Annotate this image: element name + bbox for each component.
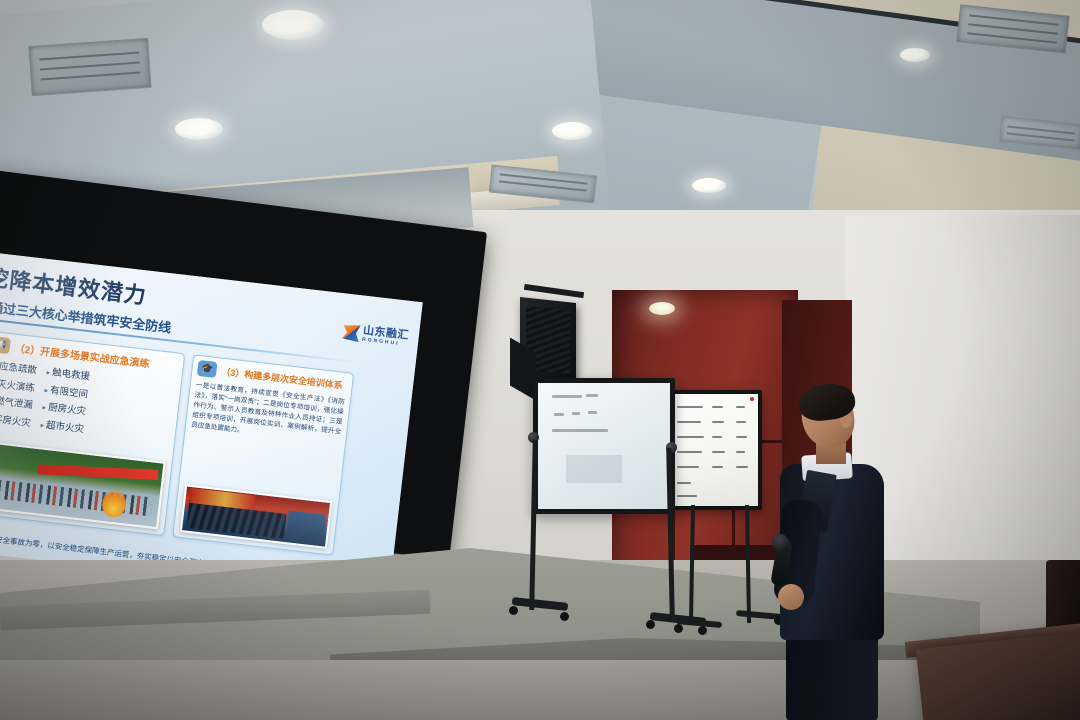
flipchart-paper bbox=[672, 394, 758, 506]
safety-training-photo bbox=[180, 484, 333, 549]
led-display-assembly: 空深挖降本增效潜力 —2026年通过三大核心举措筑牢安全防线 山东融汇 RONG… bbox=[0, 200, 490, 580]
drill-flame bbox=[101, 489, 128, 518]
presenter-hand bbox=[778, 584, 804, 610]
card-2-bullets-right: 触电救援 有限空间 厨房火灾 超市火灾 bbox=[40, 364, 91, 435]
list-item: 客房火灾 bbox=[0, 410, 32, 429]
ceiling-spotlight bbox=[649, 302, 675, 315]
ceiling-downlight bbox=[900, 48, 930, 62]
company-logo: 山东融汇 RONGHUI bbox=[342, 323, 410, 347]
list-item: 燃气泄漏 bbox=[0, 392, 34, 411]
list-item: 超市火灾 bbox=[40, 416, 85, 435]
flipchart-caster bbox=[674, 624, 683, 633]
list-item: 灭火演练 bbox=[0, 375, 36, 394]
graduation-cap-icon: 🎓 bbox=[197, 360, 218, 378]
list-item: 触电救援 bbox=[46, 364, 91, 383]
whiteboard-caster bbox=[509, 606, 518, 615]
list-item: 厨房火灾 bbox=[42, 398, 87, 417]
ceiling-downlight bbox=[552, 122, 592, 140]
fire-drill-photo bbox=[0, 440, 166, 529]
list-item: 应急疏散 bbox=[0, 357, 38, 376]
whiteboard-surface[interactable] bbox=[538, 383, 670, 509]
drill-banner bbox=[38, 464, 158, 479]
presenter bbox=[772, 388, 892, 720]
ceiling-downlight bbox=[175, 118, 223, 140]
display-surface[interactable]: 空深挖降本增效潜力 —2026年通过三大核心举措筑牢安全防线 山东融汇 RONG… bbox=[0, 246, 423, 600]
drill-participants bbox=[0, 478, 152, 516]
whiteboard-caster bbox=[698, 626, 707, 635]
list-item: 有限空间 bbox=[44, 381, 89, 400]
slide-card-2: 📢 （2）开展多场景实战应急演练 应急疏散 灭火演练 燃气泄漏 客房火灾 触电救… bbox=[0, 330, 185, 536]
whiteboard-caster bbox=[560, 612, 569, 621]
logo-mark-icon bbox=[342, 323, 361, 342]
hvac-vent bbox=[28, 38, 151, 96]
megaphone-icon: 📢 bbox=[0, 336, 11, 354]
conference-room-photo: 空深挖降本增效潜力 —2026年通过三大核心举措筑牢安全防线 山东融汇 RONG… bbox=[0, 0, 1080, 720]
card-2-bullets-left: 应急疏散 灭火演练 燃气泄漏 客房火灾 bbox=[0, 357, 38, 428]
presenter-legs bbox=[786, 632, 878, 720]
whiteboard-caster bbox=[646, 620, 655, 629]
presentation-slide: 空深挖降本增效潜力 —2026年通过三大核心举措筑牢安全防线 山东融汇 RONG… bbox=[0, 246, 423, 600]
slide-card-3: 🎓 （3）构建多层次安全培训体系 一是以普法教育，持续宣贯《安全生产法》《消防法… bbox=[172, 354, 354, 555]
ceiling-downlight bbox=[692, 178, 726, 193]
ceiling-downlight bbox=[262, 10, 324, 40]
